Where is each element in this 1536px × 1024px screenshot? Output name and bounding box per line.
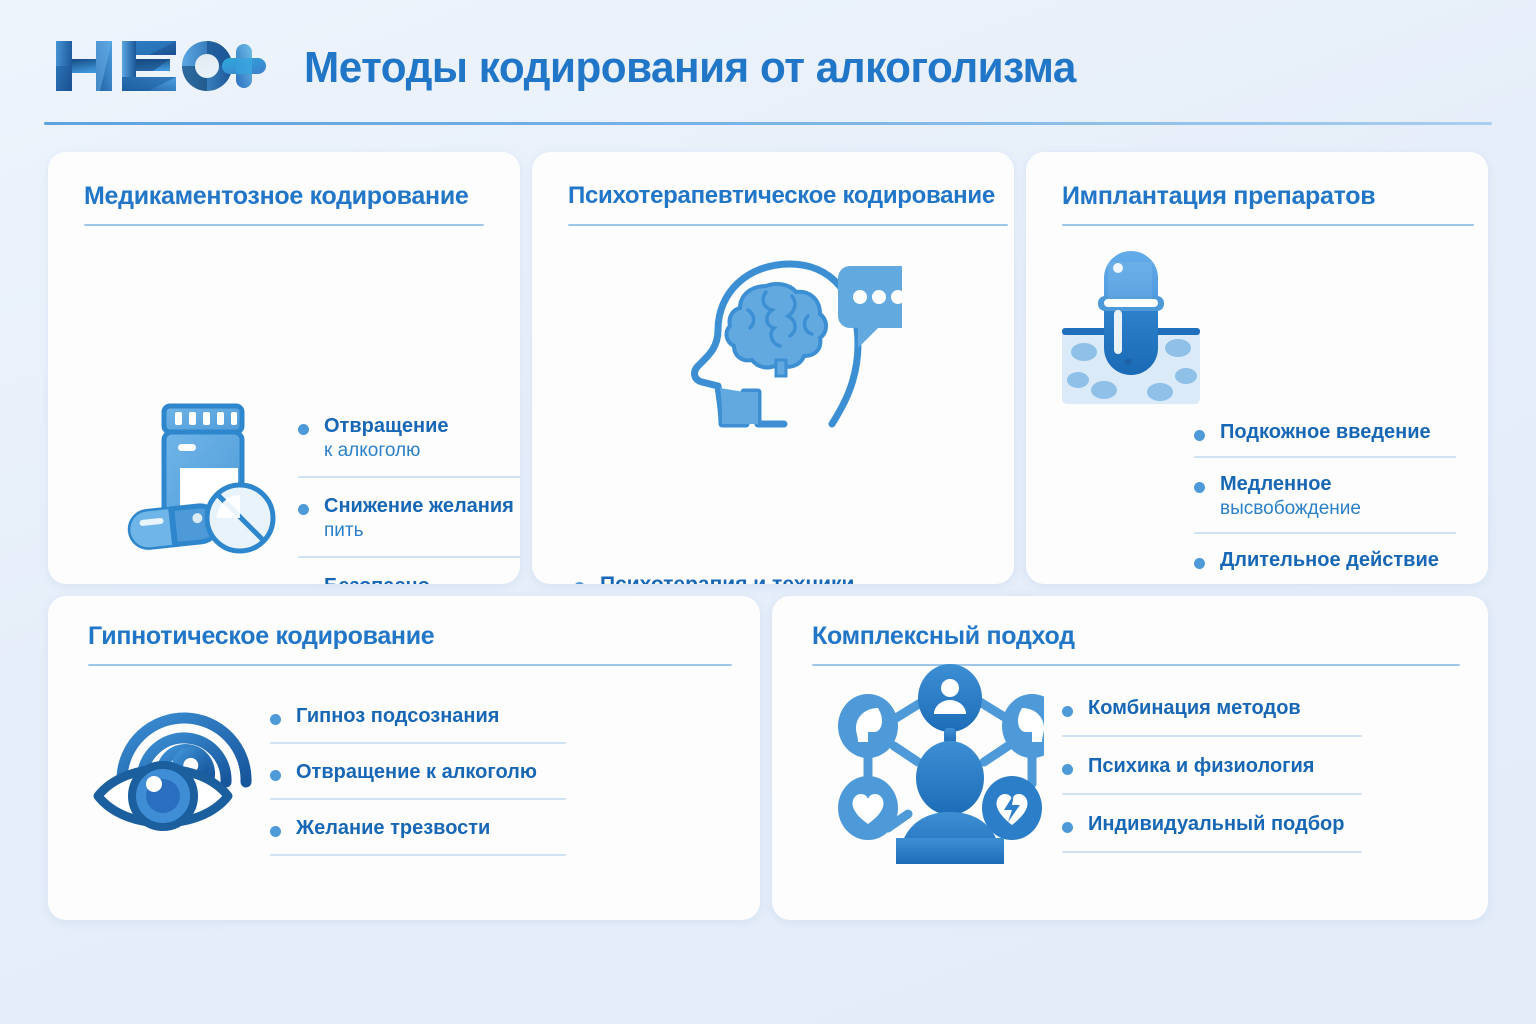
hypnosis-eye-icon xyxy=(90,678,270,843)
card-medication-heading: Медикаментозное кодирование xyxy=(84,182,469,211)
page-header: Методы кодирования от алкоголизма xyxy=(0,0,1536,135)
card-complex-approach-bullets: Комбинация методов Психика и физиология … xyxy=(1062,696,1372,870)
page-title: Методы кодирования от алкоголизма xyxy=(304,43,1076,93)
card-hypnosis-bullets: Гипноз подсознания Отвращение к алкоголю… xyxy=(270,704,570,872)
bullet-dot-icon xyxy=(298,584,309,585)
bullet-dot-icon xyxy=(298,504,309,515)
bullet-divider xyxy=(270,798,566,800)
bullet-text-primary: Гипноз подсознания xyxy=(296,704,570,729)
card-psychotherapy-heading: Психотерапевтическое кодирование xyxy=(568,182,995,210)
card-psychotherapy-bullets: Психотерапия и техники Решение конфликто… xyxy=(574,572,884,584)
card-implantation-heading-rule xyxy=(1062,224,1474,226)
card-medication[interactable]: Медикаментозное кодирование xyxy=(48,152,520,584)
bullet-text-primary: Комбинация методов xyxy=(1088,696,1372,721)
network-people-icon xyxy=(834,662,1044,867)
bullet-dot-icon xyxy=(1062,706,1073,717)
bullet-text-primary: Длительное действие xyxy=(1220,548,1456,573)
bullet-text-secondary: высвобождение xyxy=(1220,497,1456,521)
list-item[interactable]: Безопасно и эффективно xyxy=(298,574,520,585)
bullet-divider xyxy=(270,854,566,856)
bullet-text-primary: Отвращение xyxy=(324,414,520,439)
bullet-text-secondary: к алкоголю xyxy=(324,439,520,463)
bullet-text-primary: Медленное xyxy=(1220,472,1456,497)
implant-capsule-icon xyxy=(1056,238,1206,413)
card-hypnosis-heading-rule xyxy=(88,664,732,666)
list-item[interactable]: Психика и физиология xyxy=(1062,754,1372,779)
bullet-text-primary: Психотерапия и техники xyxy=(600,572,884,584)
card-psychotherapy-heading-rule xyxy=(568,224,1008,226)
bullet-dot-icon xyxy=(270,714,281,725)
card-psychotherapy[interactable]: Психотерапевтическое кодирование xyxy=(532,152,1014,584)
bullet-dot-icon xyxy=(270,770,281,781)
bullet-dot-icon xyxy=(1194,430,1205,441)
bullet-divider xyxy=(270,742,566,744)
card-medication-bullets: Отвращение к алкоголю Снижение желания п… xyxy=(298,414,520,584)
list-item[interactable]: Снижение желания пить xyxy=(298,494,520,543)
bullet-dot-icon xyxy=(574,582,585,584)
bullet-dot-icon xyxy=(270,826,281,837)
bullet-text-primary: Снижение желания xyxy=(324,494,520,519)
card-complex-approach[interactable]: Комплексный подход xyxy=(772,596,1488,920)
header-divider xyxy=(44,122,1492,125)
card-implantation-bullets: Подкожное введение Медленное высвобожден… xyxy=(1194,420,1456,584)
list-item[interactable]: Психотерапия и техники xyxy=(574,572,884,584)
list-item[interactable]: Отвращение к алкоголю xyxy=(298,414,520,463)
list-item[interactable]: Отвращение к алкоголю xyxy=(270,760,570,785)
bullet-text-secondary: пить xyxy=(324,519,520,543)
bullet-dot-icon xyxy=(1062,822,1073,833)
bullet-divider xyxy=(1194,532,1456,534)
card-implantation[interactable]: Имплантация препаратов xyxy=(1026,152,1488,584)
bullet-text-primary: Желание трезвости xyxy=(296,816,570,841)
brand-logo-icon xyxy=(52,35,266,97)
list-item[interactable]: Подкожное введение xyxy=(1194,420,1456,445)
bullet-divider xyxy=(298,556,520,558)
bullet-divider xyxy=(298,476,520,478)
card-hypnosis-heading: Гипнотическое кодирование xyxy=(88,622,434,651)
bullet-divider xyxy=(1194,456,1456,458)
bullet-dot-icon xyxy=(1194,482,1205,493)
list-item[interactable]: Желание трезвости xyxy=(270,816,570,841)
card-implantation-heading: Имплантация препаратов xyxy=(1062,182,1375,211)
brain-head-speech-icon xyxy=(662,252,902,432)
bullet-divider xyxy=(1062,793,1362,795)
list-item[interactable]: Гипноз подсознания xyxy=(270,704,570,729)
bullet-dot-icon xyxy=(1062,764,1073,775)
list-item[interactable]: Длительное действие xyxy=(1194,548,1456,573)
card-medication-heading-rule xyxy=(84,224,484,226)
bullet-divider xyxy=(1062,851,1362,853)
list-item[interactable]: Комбинация методов xyxy=(1062,696,1372,721)
bullet-text-primary: Безопасно xyxy=(324,574,520,585)
bullet-dot-icon xyxy=(298,424,309,435)
pill-bottle-icon xyxy=(118,400,288,560)
bullet-text-primary: Индивидуальный подбор xyxy=(1088,812,1372,837)
card-complex-approach-heading: Комплексный подход xyxy=(812,622,1075,651)
list-item[interactable]: Медленное высвобождение xyxy=(1194,472,1456,521)
bullet-text-primary: Психика и физиология xyxy=(1088,754,1372,779)
card-hypnosis[interactable]: Гипнотическое кодирование xyxy=(48,596,760,920)
bullet-text-primary: Подкожное введение xyxy=(1220,420,1456,445)
bullet-dot-icon xyxy=(1194,558,1205,569)
bullet-text-primary: Отвращение к алкоголю xyxy=(296,760,570,785)
list-item[interactable]: Индивидуальный подбор xyxy=(1062,812,1372,837)
bullet-divider xyxy=(1062,735,1362,737)
